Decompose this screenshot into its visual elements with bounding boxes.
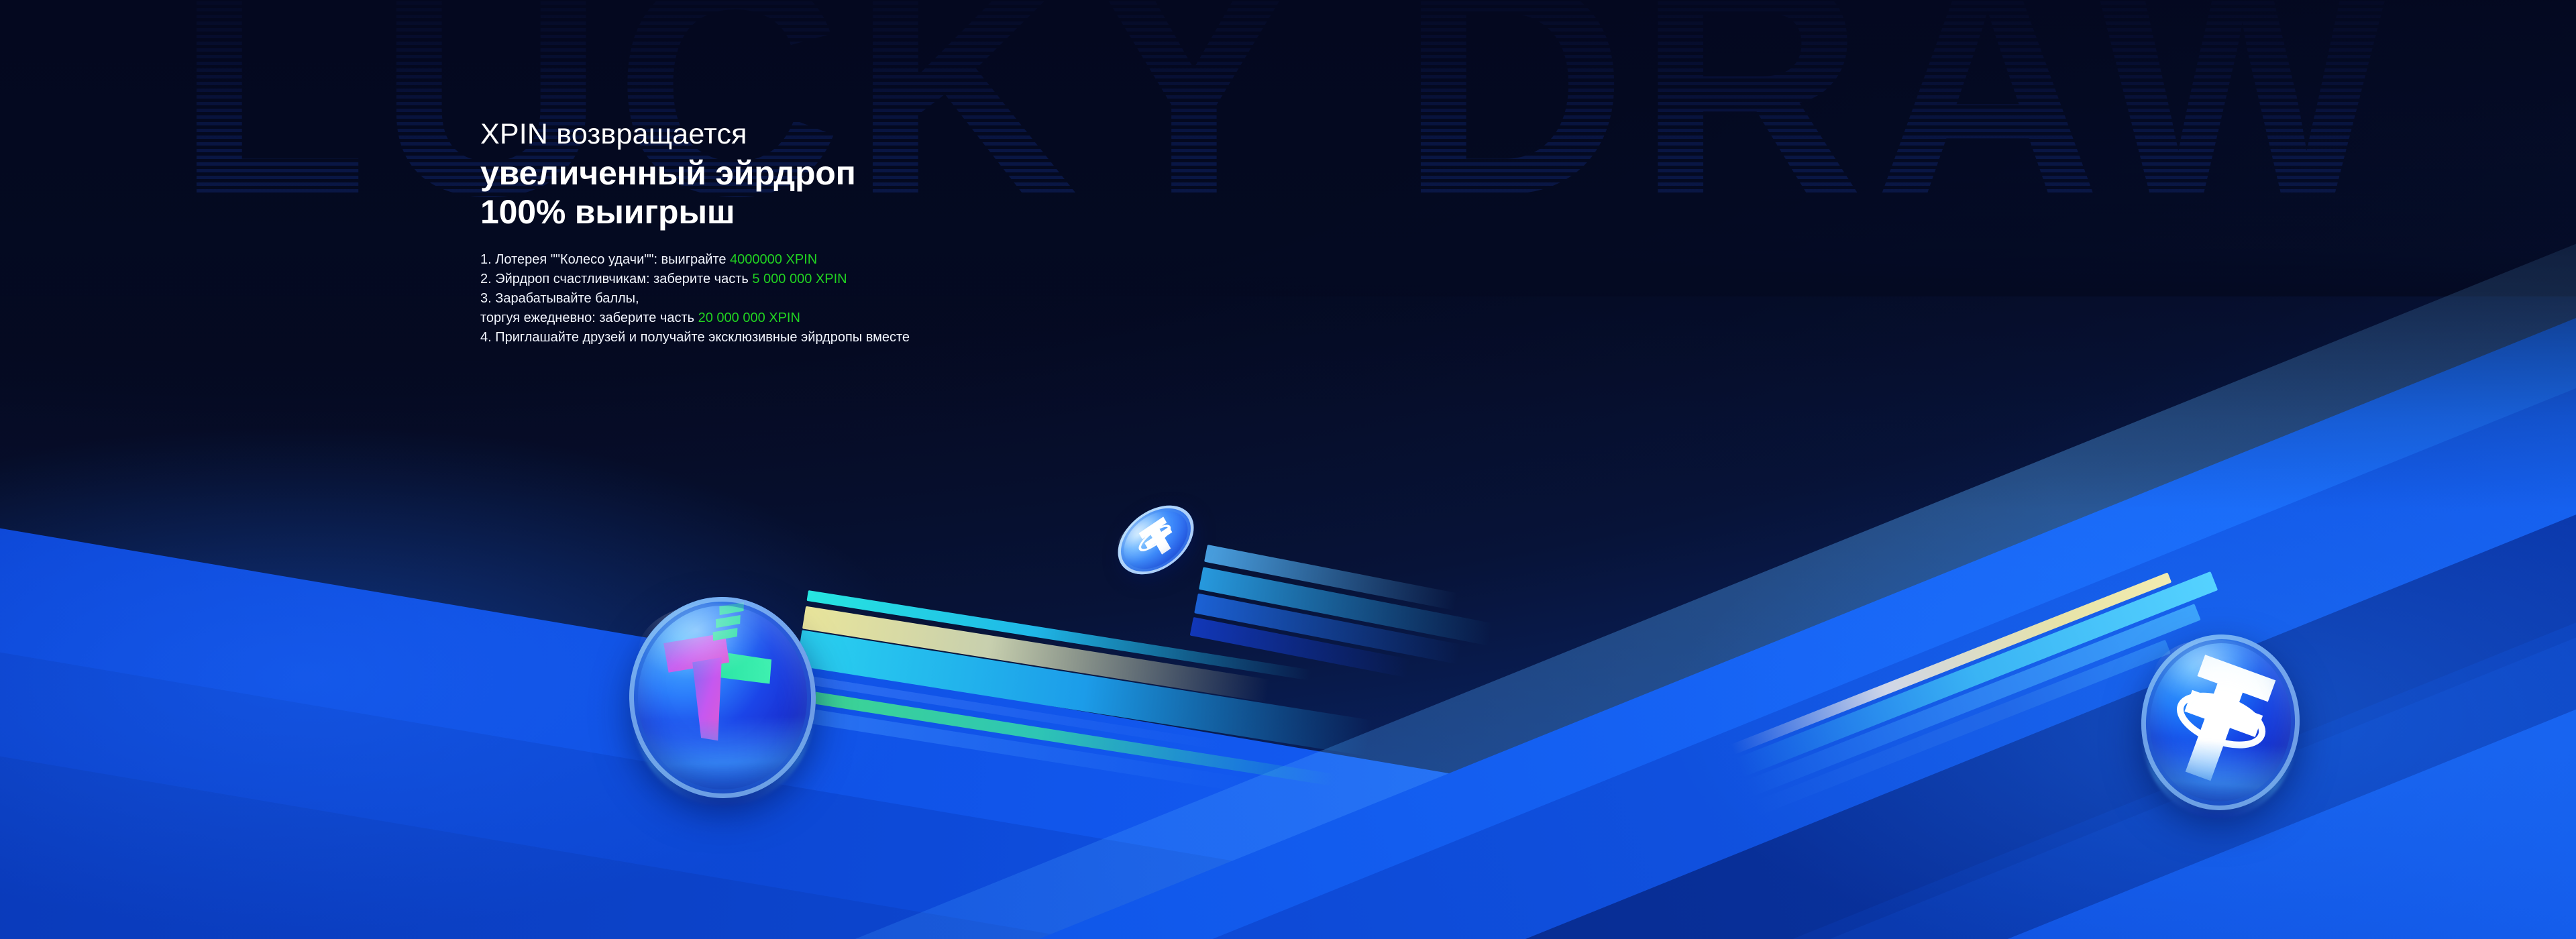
bullet-item: 2. Эйрдроп счастливчикам: заберите часть… bbox=[480, 270, 1419, 289]
headline-line-2: увеличенный эйрдроп bbox=[480, 156, 1419, 191]
coin-face bbox=[626, 594, 819, 802]
tether-logo-icon bbox=[2135, 629, 2306, 816]
coin-face bbox=[2135, 629, 2306, 816]
bullet-text: 3. Зарабатывайте баллы, bbox=[480, 291, 639, 306]
bullet-item: 1. Лотерея ""Колесо удачи"": выиграйте 4… bbox=[480, 250, 1419, 270]
headline-line-3: 100% выигрыш bbox=[480, 195, 1419, 230]
bullet-item: 3. Зарабатывайте баллы, bbox=[480, 289, 1419, 309]
bullet-amount: 4000000 XPIN bbox=[730, 252, 817, 267]
bullet-item: 4. Приглашайте друзей и получайте эксклю… bbox=[480, 328, 1419, 347]
bullet-item: торгуя ежедневно: заберите часть 20 000 … bbox=[480, 309, 1419, 328]
promo-bullet-list: 1. Лотерея ""Колесо удачи"": выиграйте 4… bbox=[480, 250, 1419, 348]
xpin-token-coin bbox=[626, 594, 819, 802]
usdt-token-coin bbox=[2135, 629, 2306, 816]
headline-line-1: XPIN возвращается bbox=[480, 119, 1419, 150]
xpin-logo-icon bbox=[626, 594, 819, 802]
bullet-amount: 20 000 000 XPIN bbox=[698, 311, 800, 325]
bullet-text: 1. Лотерея ""Колесо удачи"": выиграйте bbox=[480, 252, 730, 267]
bullet-amount: 5 000 000 XPIN bbox=[752, 272, 847, 286]
lucky-draw-promo-banner: LUCKY DRAW bbox=[0, 0, 2576, 939]
bullet-text: 4. Приглашайте друзей и получайте эксклю… bbox=[480, 330, 910, 345]
promo-copy-block: XPIN возвращается увеличенный эйрдроп 10… bbox=[480, 119, 1419, 348]
bullet-text: 2. Эйрдроп счастливчикам: заберите часть bbox=[480, 272, 752, 286]
bullet-text: торгуя ежедневно: заберите часть bbox=[480, 311, 698, 325]
